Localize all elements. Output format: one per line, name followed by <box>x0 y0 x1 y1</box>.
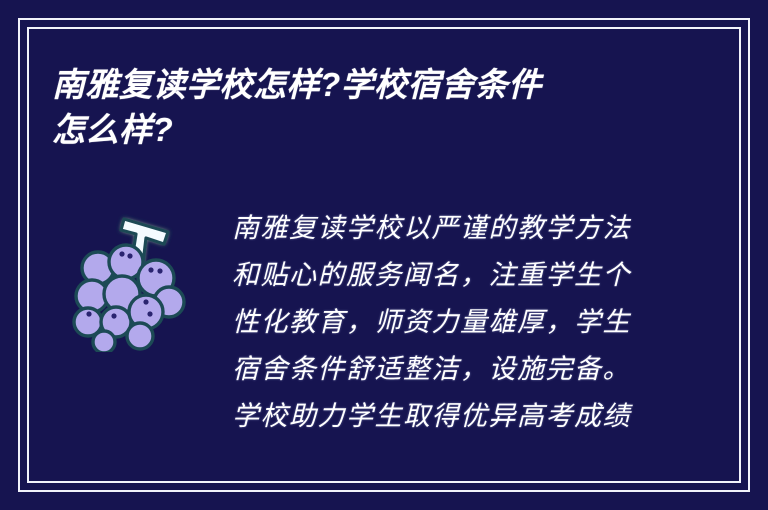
grape-cluster-icon <box>68 202 190 352</box>
body-line-2: 和贴心的服务闻名，注重学生个 <box>232 252 652 299</box>
poster-canvas: 南雅复读学校怎样?学校宿舍条件 怎么样? <box>0 0 768 510</box>
title-line-2: 怎么样? <box>52 107 652 152</box>
body-line-5: 学校助力学生取得优异高考成绩 <box>232 393 652 440</box>
body-paragraph: 南雅复读学校以严谨的教学方法 和贴心的服务闻名，注重学生个 性化教育，师资力量雄… <box>232 205 652 440</box>
title-line-1: 南雅复读学校怎样?学校宿舍条件 <box>52 62 652 107</box>
body-line-4: 宿舍条件舒适整洁，设施完备。 <box>232 346 652 393</box>
body-line-3: 性化教育，师资力量雄厚，学生 <box>232 299 652 346</box>
body-line-1: 南雅复读学校以严谨的教学方法 <box>232 205 652 252</box>
page-title: 南雅复读学校怎样?学校宿舍条件 怎么样? <box>52 62 652 152</box>
